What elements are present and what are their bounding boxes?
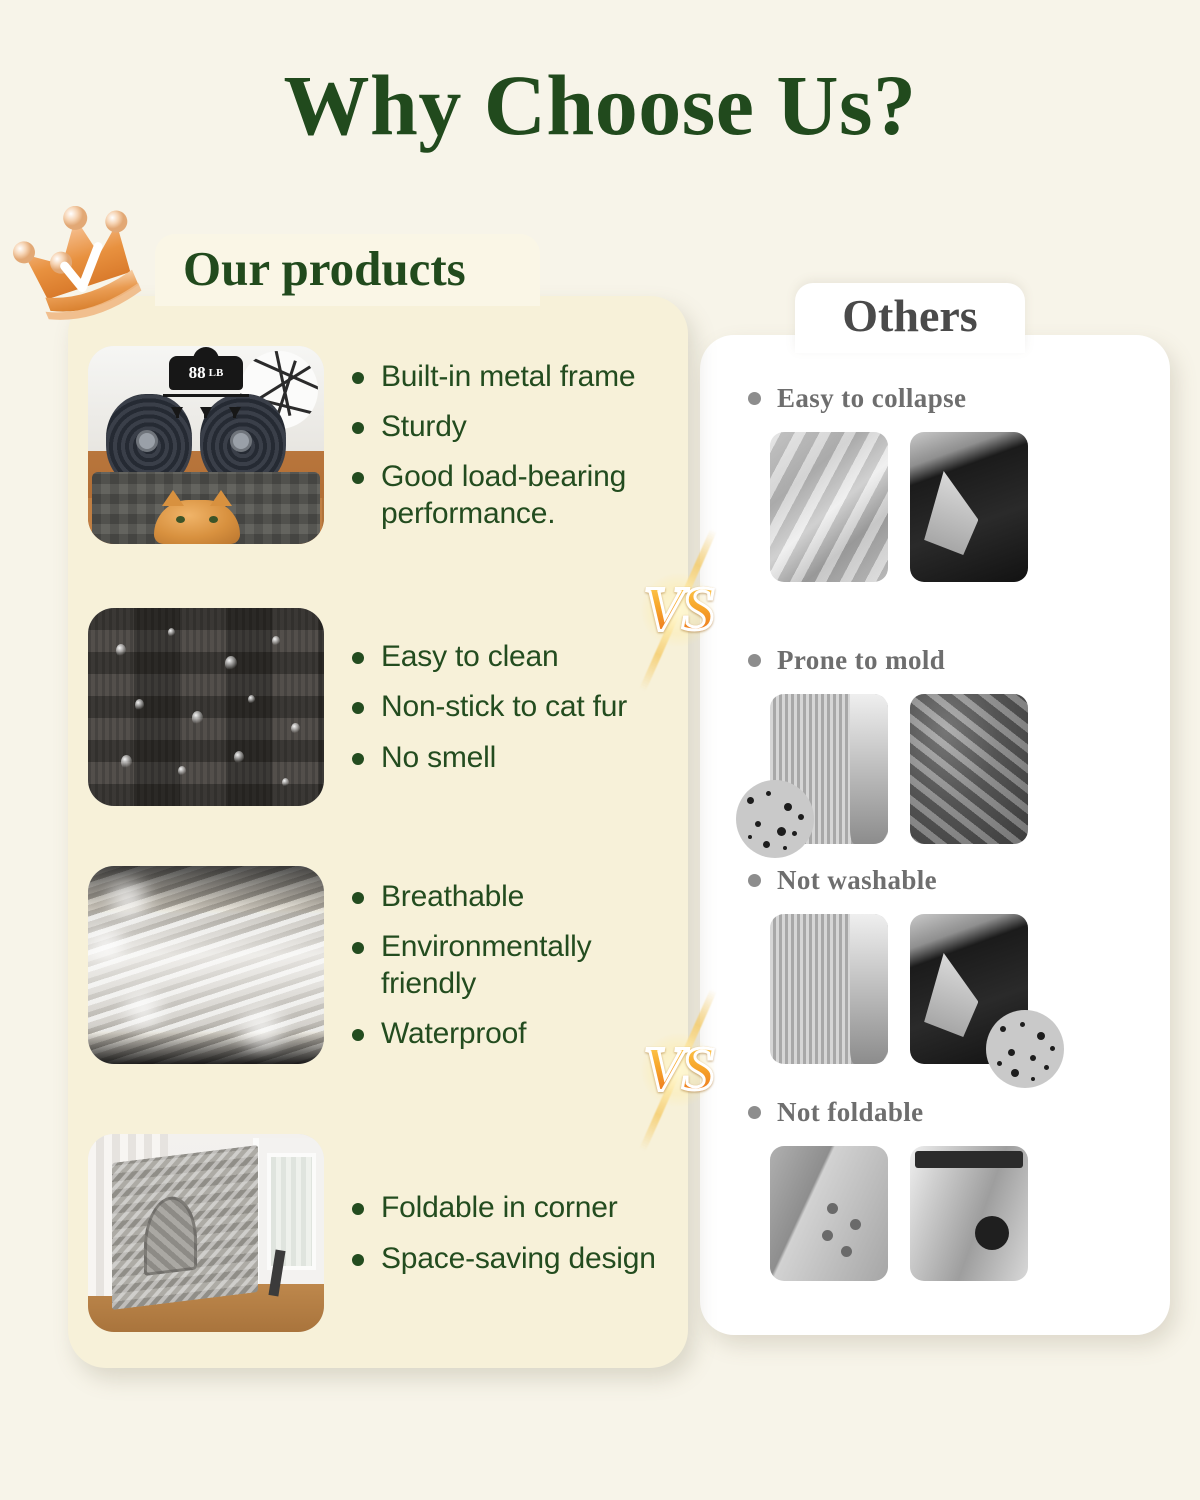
product-row: Easy to clean Non-stick to cat fur No sm… (88, 608, 672, 806)
list-item-label: Non-stick to cat fur (381, 688, 627, 725)
list-item-label: Good load-bearing performance. (381, 458, 672, 532)
vs-badge-bottom: VS (618, 990, 738, 1150)
bullet-dot-icon (352, 892, 364, 904)
crown-icon (8, 206, 158, 328)
breathable-weave-steam-photo (88, 866, 324, 1064)
others-section-header: Not washable (748, 865, 1148, 896)
others-image-group (748, 1146, 1148, 1281)
others-section-label: Prone to mold (777, 645, 945, 676)
ribbed-fabric-photo (770, 914, 888, 1064)
weight-value: 88 (189, 363, 206, 383)
bullet-dot-icon (352, 472, 364, 484)
list-item-label: Built-in metal frame (381, 358, 635, 395)
bullet-dot-icon (748, 1106, 761, 1119)
wet-woven-texture-photo (88, 608, 324, 806)
list-item-label: Breathable (381, 878, 524, 915)
tab-our-products[interactable]: Our products (155, 234, 540, 306)
others-image-group (748, 432, 1148, 582)
product-bullet-list: Foldable in corner Space-saving design (352, 1189, 672, 1276)
product-row: Breathable Environmentally friendly Wate… (88, 866, 672, 1064)
list-item-label: No smell (381, 739, 496, 776)
mold-spots-circle-icon (736, 780, 814, 858)
tab-others-label: Others (842, 293, 977, 343)
list-item: Space-saving design (352, 1240, 672, 1277)
dumbbells-in-basket-photo: 88 LB (88, 346, 324, 544)
others-image-group (748, 694, 1148, 844)
list-item-label: Waterproof (381, 1015, 526, 1052)
others-image-group (748, 914, 1148, 1064)
others-section-label: Not foldable (777, 1097, 924, 1128)
vs-label: VS (643, 1035, 713, 1106)
list-item: No smell (352, 739, 672, 776)
weight-unit: LB (209, 367, 224, 379)
list-item-label: Space-saving design (381, 1240, 656, 1277)
bullet-dot-icon (748, 392, 761, 405)
others-section-prone-to-mold: Prone to mold (748, 645, 1148, 844)
list-item-label: Foldable in corner (381, 1189, 618, 1226)
others-section-not-washable: Not washable (748, 865, 1148, 1064)
others-section-header: Prone to mold (748, 645, 1148, 676)
folded-basket-in-room-photo (88, 1134, 324, 1332)
others-section-header: Not foldable (748, 1097, 1148, 1128)
bullet-dot-icon (352, 1203, 364, 1215)
others-sections: Easy to collapse Prone to mold (700, 335, 1170, 1335)
list-item: Non-stick to cat fur (352, 688, 672, 725)
bullet-dot-icon (748, 654, 761, 667)
tab-our-products-label: Our products (183, 244, 466, 297)
tab-others[interactable]: Others (795, 283, 1025, 353)
others-section-not-foldable: Not foldable (748, 1097, 1148, 1281)
list-item: Sturdy (352, 408, 672, 445)
our-products-card: 88 LB Built-in metal frame Sturdy (68, 296, 688, 1368)
others-section-label: Easy to collapse (777, 383, 966, 414)
page-title: Why Choose Us? (0, 62, 1200, 148)
bullet-dot-icon (352, 702, 364, 714)
vs-label: VS (643, 575, 713, 646)
bullet-dot-icon (352, 753, 364, 765)
bullet-dot-icon (748, 874, 761, 887)
rigid-box-with-hole-photo (910, 1146, 1028, 1281)
others-section-easy-to-collapse: Easy to collapse (748, 383, 1148, 582)
moldy-surface-photo (910, 694, 1028, 844)
bullet-dot-icon (352, 1029, 364, 1041)
vs-badge-top: VS (618, 530, 738, 690)
list-item-label: Easy to clean (381, 638, 559, 675)
list-item: Good load-bearing performance. (352, 458, 672, 532)
list-item-label: Sturdy (381, 408, 467, 445)
list-item: Breathable (352, 878, 672, 915)
infographic-page: Why Choose Us? Easy to collapse Prone to… (0, 0, 1200, 1500)
others-section-header: Easy to collapse (748, 383, 1148, 414)
bullet-dot-icon (352, 422, 364, 434)
bullet-dot-icon (352, 372, 364, 384)
down-arrows-icon (163, 400, 249, 418)
collapsed-cloth-photo (770, 432, 888, 582)
others-card: Easy to collapse Prone to mold (700, 335, 1170, 1335)
others-section-label: Not washable (777, 865, 937, 896)
bullet-dot-icon (352, 1254, 364, 1266)
weight-badge: 88 LB (169, 356, 243, 390)
product-row: 88 LB Built-in metal frame Sturdy (88, 346, 672, 544)
bullet-dot-icon (352, 652, 364, 664)
steam-icon (88, 866, 324, 1064)
product-row: Foldable in corner Space-saving design (88, 1134, 672, 1332)
list-item: Built-in metal frame (352, 358, 672, 395)
list-item: Foldable in corner (352, 1189, 672, 1226)
collapsed-dark-box-photo (910, 432, 1028, 582)
bullet-dot-icon (352, 942, 364, 954)
product-bullet-list: Built-in metal frame Sturdy Good load-be… (352, 358, 672, 533)
rigid-box-with-holes-photo (770, 1146, 888, 1281)
mold-spots-circle-icon (986, 1010, 1064, 1088)
water-droplets-icon (88, 608, 324, 806)
